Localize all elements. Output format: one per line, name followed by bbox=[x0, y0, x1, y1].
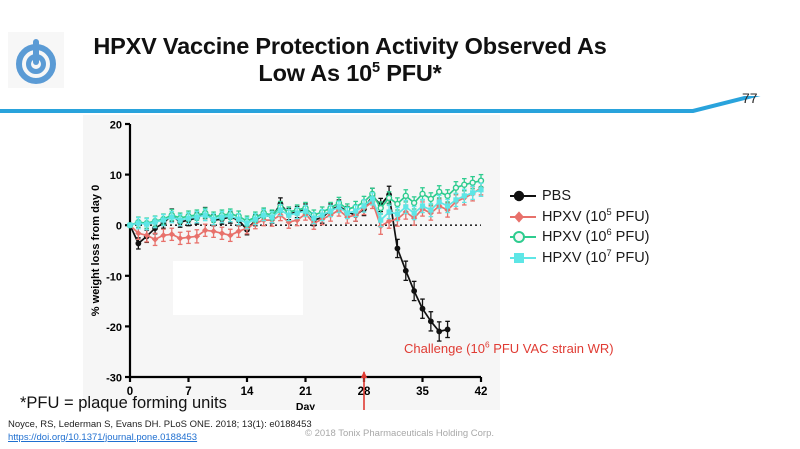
citation-doi-link[interactable]: https://doi.org/10.1371/journal.pone.018… bbox=[8, 432, 197, 443]
title-line-2-post: PFU* bbox=[380, 60, 442, 86]
legend-item: HPXV (105 PFU) bbox=[508, 207, 698, 228]
challenge-annotation-label: Challenge (106 PFU VAC strain WR) bbox=[404, 341, 614, 356]
legend-label-hpxv-1e7: HPXV (107 PFU) bbox=[538, 250, 650, 266]
legend-marker-hpxv-1e6 bbox=[508, 227, 538, 247]
blank-overlay-rectangle bbox=[173, 261, 303, 315]
citation-block: Noyce, RS, Lederman S, Evans DH. PLoS ON… bbox=[8, 419, 312, 444]
title-exponent: 5 bbox=[372, 60, 380, 76]
title-line-2-pre: Low As 10 bbox=[258, 60, 372, 86]
svg-text:Day: Day bbox=[296, 401, 315, 410]
legend-marker-pbs bbox=[508, 186, 538, 206]
tonix-power-logo-icon bbox=[8, 32, 64, 88]
svg-text:% weight loss from day 0: % weight loss from day 0 bbox=[90, 185, 102, 316]
svg-text:-10: -10 bbox=[106, 271, 122, 283]
challenge-text-post: PFU VAC strain WR) bbox=[490, 341, 614, 356]
svg-text:10: 10 bbox=[110, 170, 122, 182]
title-line-1: HPXV Vaccine Protection Activity Observe… bbox=[93, 33, 606, 59]
legend-marker-hpxv-1e7 bbox=[508, 248, 538, 268]
svg-text:21: 21 bbox=[299, 386, 312, 398]
svg-text:0: 0 bbox=[116, 221, 122, 233]
svg-text:14: 14 bbox=[241, 386, 254, 398]
copyright-notice: © 2018 Tonix Pharmaceuticals Holding Cor… bbox=[305, 428, 494, 439]
legend-marker-hpxv-1e5 bbox=[508, 207, 538, 227]
legend-item: HPXV (106 PFU) bbox=[508, 227, 698, 248]
legend-label-hpxv-1e5: HPXV (105 PFU) bbox=[538, 209, 650, 225]
chart-legend: PBS HPXV (105 PFU) HPXV (106 PFU) HPXV (… bbox=[508, 186, 698, 268]
svg-text:35: 35 bbox=[416, 386, 429, 398]
svg-text:-30: -30 bbox=[106, 373, 122, 385]
legend-item: HPXV (107 PFU) bbox=[508, 248, 698, 269]
pfu-footnote: *PFU = plaque forming units bbox=[20, 394, 227, 413]
svg-text:-20: -20 bbox=[106, 322, 122, 334]
challenge-text-pre: Challenge (10 bbox=[404, 341, 485, 356]
svg-text:20: 20 bbox=[110, 120, 122, 132]
slide-number: 77 bbox=[742, 90, 782, 106]
svg-text:42: 42 bbox=[475, 386, 488, 398]
legend-label-pbs: PBS bbox=[538, 188, 571, 204]
citation-text: Noyce, RS, Lederman S, Evans DH. PLoS ON… bbox=[8, 419, 312, 432]
page-title: HPXV Vaccine Protection Activity Observe… bbox=[70, 33, 630, 88]
legend-label-hpxv-1e6: HPXV (106 PFU) bbox=[538, 229, 650, 245]
legend-item: PBS bbox=[508, 186, 698, 207]
slide-root: HPXV Vaccine Protection Activity Observe… bbox=[0, 0, 800, 449]
